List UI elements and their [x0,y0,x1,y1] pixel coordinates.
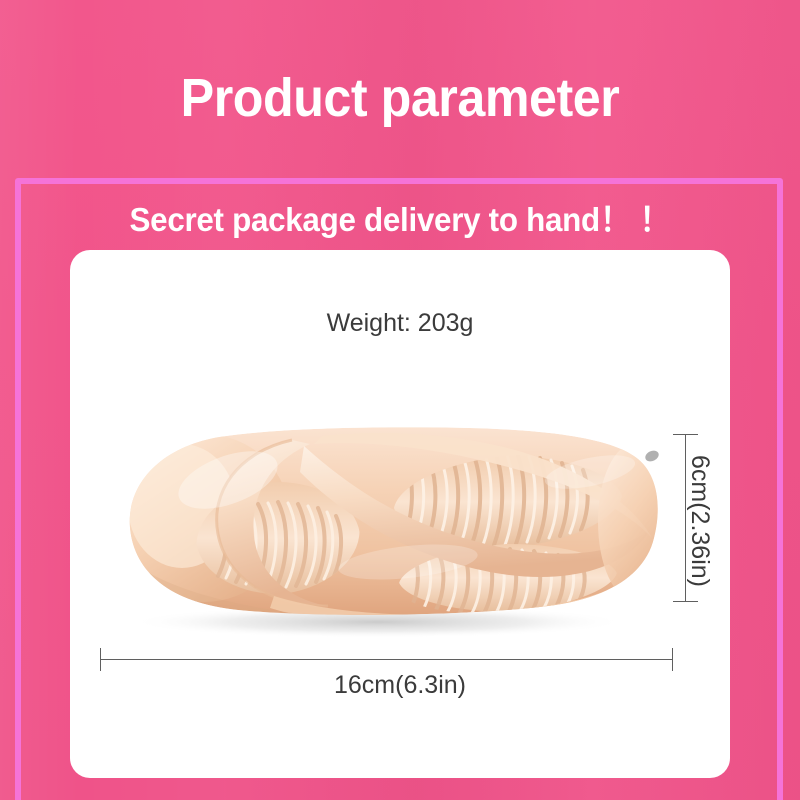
spec-card: Weight: 203g [70,250,730,778]
page-title: Product parameter [28,66,772,130]
weight-label: Weight: 203g [70,308,730,338]
width-dimension-line [100,659,673,660]
product-image [78,410,678,645]
page-subtitle: Secret package delivery to hand！ ！ [20,198,780,242]
product-parameter-poster: Product parameter Secret package deliver… [0,0,800,800]
height-dimension-label: 6cm(2.36in) [685,421,715,591]
width-dimension-label: 16cm(6.3in) [70,668,730,702]
